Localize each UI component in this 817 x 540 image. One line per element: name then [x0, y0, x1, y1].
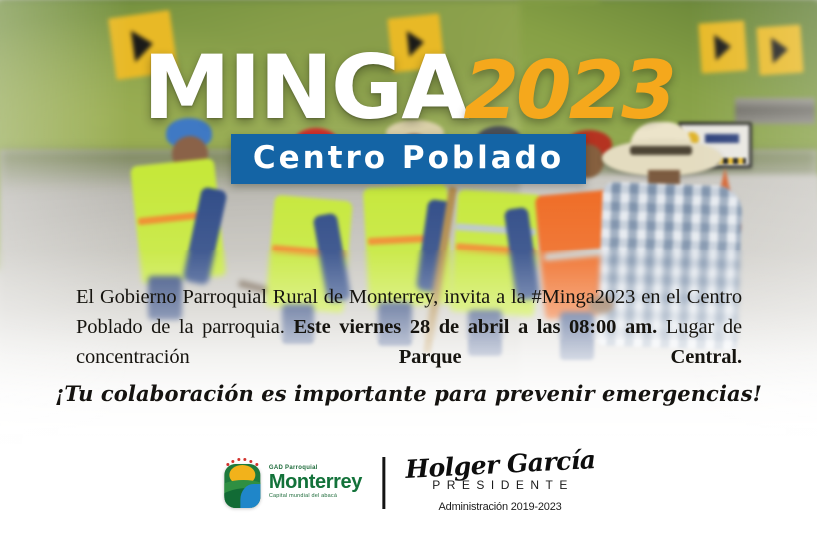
footer-divider: [382, 457, 385, 509]
subtitle-row: Centro Poblado: [0, 134, 817, 184]
tagline-text: ¡Tu colaboración es importante para prev…: [0, 381, 817, 406]
body-paragraph: El Gobierno Parroquial Rural de Monterre…: [76, 283, 742, 373]
title-line: MINGA2023: [143, 46, 674, 130]
monterrey-emblem-icon: [222, 458, 262, 508]
subtitle-banner: Centro Poblado: [231, 134, 586, 184]
footer: GAD Parroquial Monterrey Capital mundial…: [0, 444, 817, 540]
signature-administration: Administración 2019-2023: [439, 501, 562, 513]
logo-tagline: Capital mundial del abacá: [269, 494, 362, 500]
logo-text: GAD Parroquial Monterrey Capital mundial…: [269, 465, 362, 500]
signature-block: Holger García PRESIDENTE Administración …: [405, 452, 595, 513]
logo-name: Monterrey: [269, 472, 362, 492]
page-title: MINGA: [143, 36, 467, 139]
title-block: MINGA2023 Centro Poblado: [0, 46, 817, 184]
title-year: 2023: [463, 44, 674, 137]
monterrey-logo: GAD Parroquial Monterrey Capital mundial…: [222, 458, 362, 508]
signature-name: Holger García: [404, 447, 595, 482]
poster: MINGA2023 Centro Poblado El Gobierno Par…: [0, 0, 817, 540]
